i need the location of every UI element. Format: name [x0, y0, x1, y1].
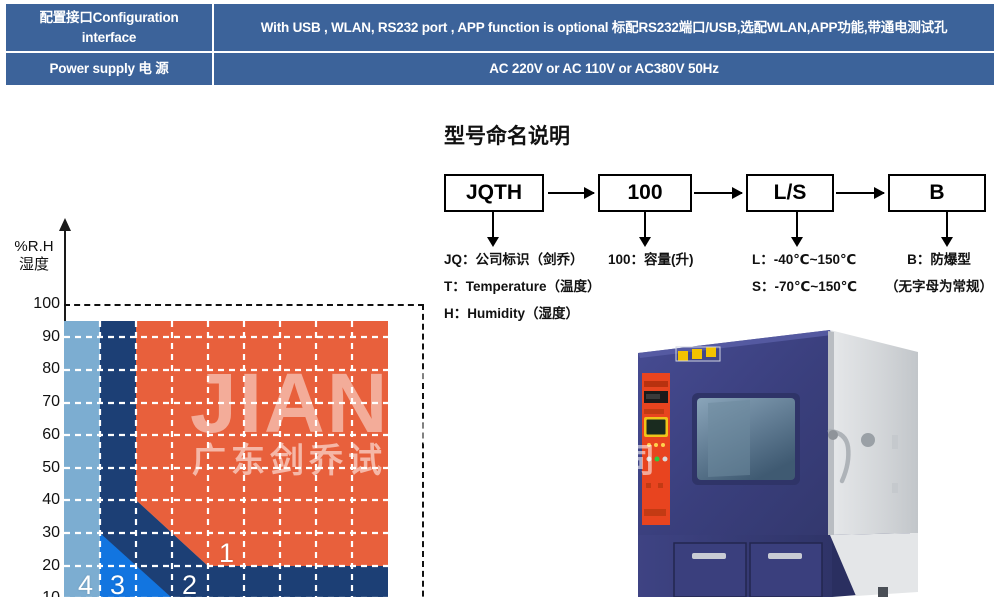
- chamber-side-panel: [830, 330, 918, 535]
- table-row: Power supply 电 源 AC 220V or AC 110V or A…: [6, 53, 994, 85]
- model-naming-title: 型号命名说明: [444, 120, 570, 150]
- code-box-jqth: JQTH: [444, 174, 544, 212]
- down-arrow-4-icon: [946, 212, 948, 238]
- legend-line: H：Humidity（湿度）: [444, 300, 601, 327]
- legend-group-capacity: 100：容量(升): [608, 246, 694, 273]
- table-row: 配置接口Configuration interface With USB , W…: [6, 4, 994, 51]
- legend-group-jqth: JQ：公司标识（剑乔） T：Temperature（温度） H：Humidity…: [444, 246, 601, 327]
- base-handle-right: [768, 553, 802, 559]
- panel-indicator-2: [655, 457, 660, 462]
- flow-arrow-2-icon: [694, 192, 742, 194]
- warning-sticker-1: [678, 351, 688, 361]
- panel-button-2: [654, 443, 658, 447]
- flow-arrow-3-icon: [836, 192, 884, 194]
- region-label-4: 4: [78, 572, 93, 597]
- specification-table: 配置接口Configuration interface With USB , W…: [4, 2, 996, 87]
- spec-value-power-supply: AC 220V or AC 110V or AC380V 50Hz: [214, 53, 994, 85]
- legend-group-explosion-proof: B：防爆型 （无字母为常规）: [880, 246, 998, 300]
- panel-switch-2: [658, 483, 663, 488]
- code-box-ls: L/S: [746, 174, 834, 212]
- base-handle-left: [692, 553, 726, 559]
- down-arrow-2-icon: [644, 212, 646, 238]
- screen-display: [647, 420, 666, 435]
- side-port: [861, 433, 875, 447]
- product-photo-test-chamber: [600, 295, 1000, 597]
- legend-line: L：-40℃~150℃: [752, 246, 857, 273]
- warning-sticker-2: [692, 349, 702, 359]
- window-reflection: [708, 400, 750, 477]
- code-box-b: B: [888, 174, 986, 212]
- side-bracket-1: [892, 435, 898, 449]
- panel-indicator-3: [663, 457, 668, 462]
- warning-sticker-3: [706, 347, 716, 357]
- plot-dashed-boundary: [64, 304, 424, 597]
- spec-label-power-supply: Power supply 电 源: [6, 53, 212, 85]
- panel-button-3: [661, 443, 665, 447]
- chamber-foot-right: [878, 587, 888, 597]
- legend-line: JQ：公司标识（剑乔）: [444, 246, 601, 273]
- panel-indicator-1: [647, 457, 652, 462]
- panel-switch-1: [646, 483, 651, 488]
- temperature-humidity-chart: %R.H 湿度 102030405060708090100: [0, 100, 470, 597]
- panel-display-text: [646, 394, 660, 399]
- legend-line: 100：容量(升): [608, 246, 694, 273]
- legend-line: B：防爆型: [880, 246, 998, 273]
- spec-value-config-interface: With USB , WLAN, RS232 port , APP functi…: [214, 4, 994, 51]
- spec-label-config-interface: 配置接口Configuration interface: [6, 4, 212, 51]
- down-arrow-1-icon: [492, 212, 494, 238]
- door-handle-pivot: [828, 430, 838, 440]
- region-label-3: 3: [110, 572, 125, 597]
- base-door-right: [750, 543, 822, 597]
- panel-sub-label: [644, 409, 664, 414]
- panel-label-top: [644, 381, 668, 387]
- region-label-2: 2: [182, 572, 197, 597]
- panel-button-1: [647, 443, 651, 447]
- page-root: 配置接口Configuration interface With USB , W…: [0, 0, 1000, 597]
- base-door-left: [674, 543, 746, 597]
- down-arrow-3-icon: [796, 212, 798, 238]
- legend-group-temp-range: L：-40℃~150℃ S：-70℃~150℃: [752, 246, 857, 300]
- side-bracket-2: [892, 483, 898, 493]
- code-box-100: 100: [598, 174, 692, 212]
- legend-line: T：Temperature（温度）: [444, 273, 601, 300]
- flow-arrow-1-icon: [548, 192, 594, 194]
- panel-brand-plate: [644, 509, 666, 516]
- region-label-1: 1: [219, 540, 234, 567]
